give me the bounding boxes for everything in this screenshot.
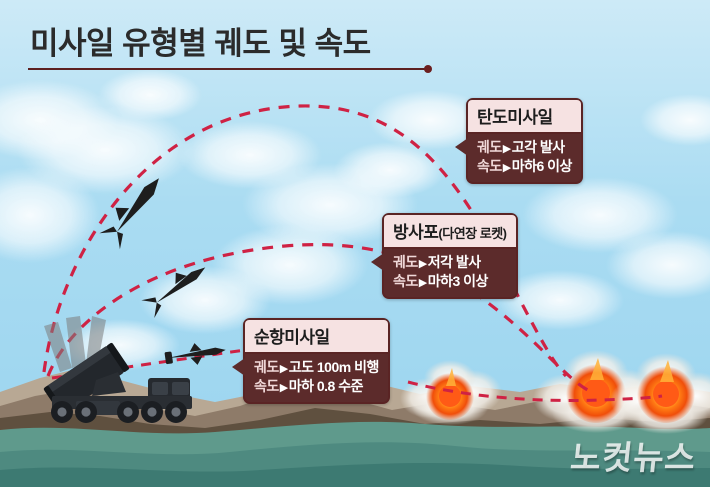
row-key: 궤도 [393, 254, 418, 270]
play-arrow-icon: ▶ [418, 258, 428, 270]
info-box-cruise-missile[interactable]: 순항미사일 궤도▶고도 100m 비행 속도▶마하 0.8 수준 [243, 318, 390, 404]
info-box-body: 궤도▶저각 발사 속도▶마하3 이상 [384, 249, 516, 297]
info-box-title: 방사포(다연장 로켓) [384, 215, 516, 249]
title-underline [28, 68, 428, 70]
row-value: 고각 발사 [512, 139, 565, 155]
play-arrow-icon: ▶ [279, 382, 289, 394]
title-end-dot [424, 65, 432, 73]
row-value: 고도 100m 비행 [289, 359, 379, 375]
play-arrow-icon: ▶ [418, 277, 428, 289]
info-box-title: 탄도미사일 [468, 100, 581, 134]
info-box-subtitle: (다연장 로켓) [438, 226, 506, 241]
info-box-name: 순항미사일 [254, 328, 330, 347]
page-title: 미사일 유형별 궤도 및 속도 [30, 18, 371, 63]
info-row-speed: 속도▶마하3 이상 [393, 272, 507, 291]
page-title-block: 미사일 유형별 궤도 및 속도 [0, 0, 710, 72]
row-key: 궤도 [477, 139, 502, 155]
pointer-triangle-icon [232, 358, 245, 376]
row-key: 속도 [477, 158, 502, 174]
scene-illustration [0, 0, 710, 487]
info-box-name: 탄도미사일 [477, 108, 553, 127]
info-row-trajectory: 궤도▶고각 발사 [477, 138, 572, 157]
info-box-body: 궤도▶고각 발사 속도▶마하6 이상 [468, 134, 581, 182]
info-row-speed: 속도▶마하6 이상 [477, 157, 572, 176]
info-box-title: 순항미사일 [245, 320, 388, 354]
info-row-trajectory: 궤도▶저각 발사 [393, 253, 507, 272]
pointer-triangle-icon [455, 138, 468, 156]
play-arrow-icon: ▶ [279, 363, 289, 375]
infographic-canvas: 미사일 유형별 궤도 및 속도 탄도미사일 궤도▶고각 발사 속도▶마하6 이상… [0, 0, 710, 487]
info-box-name: 방사포 [393, 223, 438, 242]
info-box-ballistic-missile[interactable]: 탄도미사일 궤도▶고각 발사 속도▶마하6 이상 [466, 98, 583, 184]
info-box-multiple-rocket-launcher[interactable]: 방사포(다연장 로켓) 궤도▶저각 발사 속도▶마하3 이상 [382, 213, 518, 299]
info-row-trajectory: 궤도▶고도 100m 비행 [254, 358, 379, 377]
row-key: 속도 [254, 378, 279, 394]
pointer-triangle-icon [371, 253, 384, 271]
play-arrow-icon: ▶ [502, 162, 512, 174]
row-value: 마하6 이상 [512, 158, 572, 174]
row-value: 마하 0.8 수준 [289, 378, 363, 394]
row-value: 저각 발사 [428, 254, 481, 270]
row-key: 궤도 [254, 359, 279, 375]
play-arrow-icon: ▶ [502, 143, 512, 155]
row-key: 속도 [393, 273, 418, 289]
info-row-speed: 속도▶마하 0.8 수준 [254, 377, 379, 396]
info-box-body: 궤도▶고도 100m 비행 속도▶마하 0.8 수준 [245, 354, 388, 402]
row-value: 마하3 이상 [428, 273, 488, 289]
